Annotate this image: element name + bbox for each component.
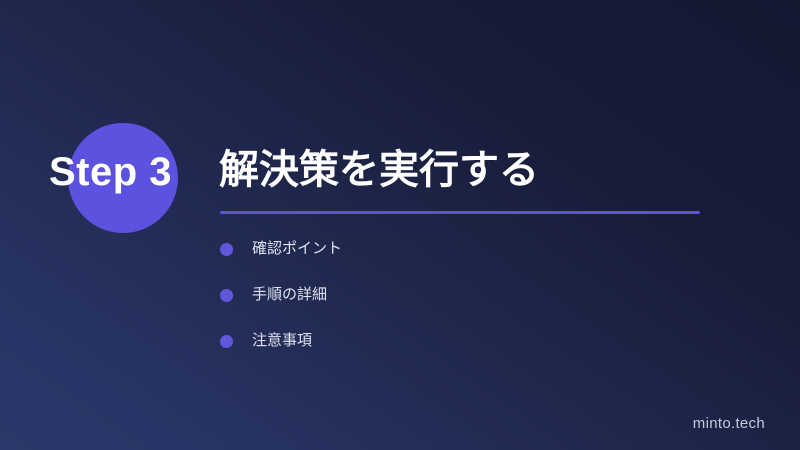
list-item: 注意事項 xyxy=(220,331,342,351)
title-divider xyxy=(220,211,700,214)
presentation-slide: Step 3 解決策を実行する 確認ポイント 手順の詳細 注意事項 minto.… xyxy=(0,0,800,450)
list-item-label: 手順の詳細 xyxy=(252,285,327,305)
step-number-label: Step 3 xyxy=(49,149,172,195)
list-item: 手順の詳細 xyxy=(220,285,342,305)
footer-brand: minto.tech xyxy=(693,414,765,434)
list-item-label: 確認ポイント xyxy=(252,239,342,259)
list-item-label: 注意事項 xyxy=(252,331,312,351)
list-item: 確認ポイント xyxy=(220,239,342,259)
slide-title: 解決策を実行する xyxy=(219,144,539,196)
bullet-dot-icon xyxy=(220,289,233,302)
bullet-dot-icon xyxy=(220,335,233,348)
bullet-list: 確認ポイント 手順の詳細 注意事項 xyxy=(220,239,342,351)
bullet-dot-icon xyxy=(220,243,233,256)
